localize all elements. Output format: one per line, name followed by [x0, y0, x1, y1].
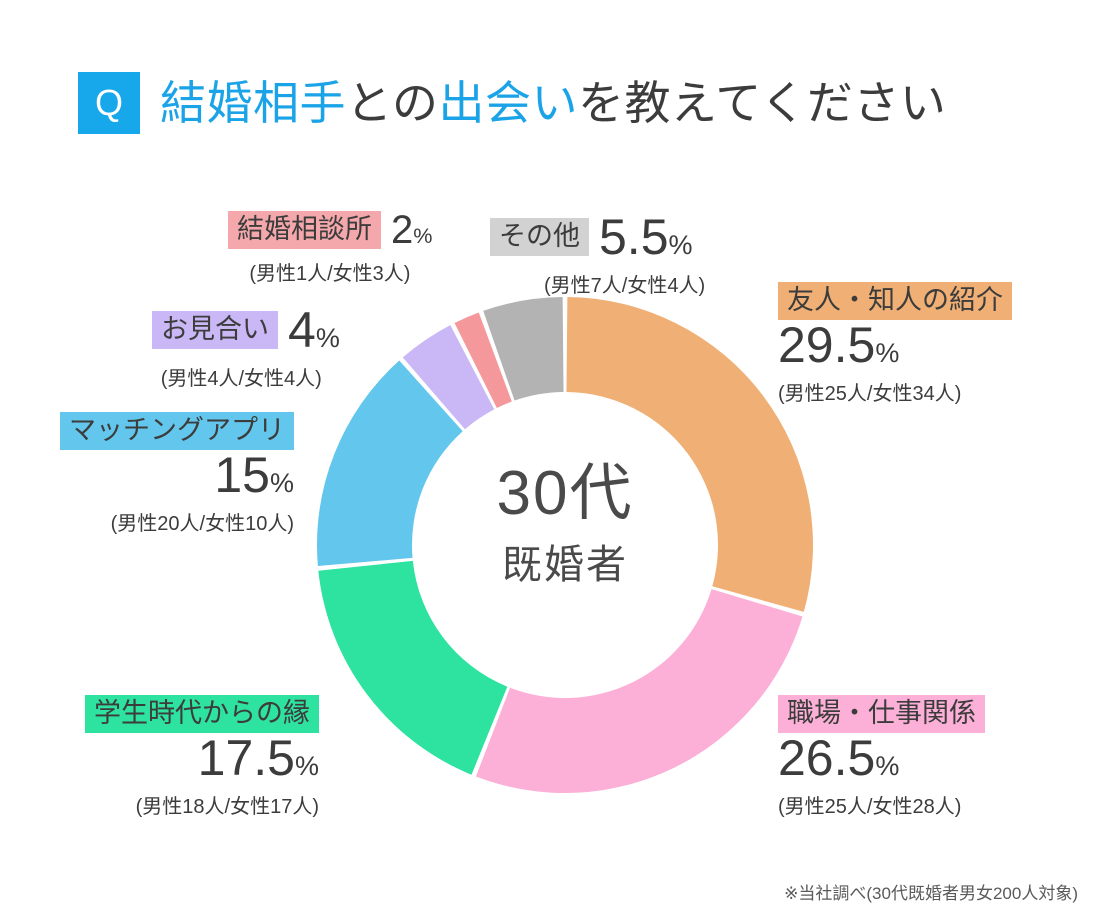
- title-segment-2: との: [346, 77, 439, 129]
- callout-shokuba-percent-row: 26.5%: [778, 733, 985, 783]
- donut-chart: 30代 既婚者: [310, 290, 820, 800]
- callout-matching-app-chip-row: マッチングアプリ: [60, 412, 294, 450]
- callout-gakusei-jidai: 学生時代からの縁 17.5% (男性18人/女性17人): [85, 695, 319, 819]
- donut-center-status: 既婚者: [310, 545, 820, 585]
- callout-matching-app-chip: マッチングアプリ: [60, 412, 294, 450]
- callout-omiai-breakdown: (男性4人/女性4人): [152, 362, 340, 391]
- callout-konkatsu-breakdown: (男性1人/女性3人): [228, 257, 432, 286]
- callout-konkatsu-chip: 結婚相談所: [228, 211, 381, 249]
- callout-shokuba-shigoto: 職場・仕事関係 26.5% (男性25人/女性28人): [778, 695, 985, 819]
- callout-omiai-row: お見合い 4%: [152, 305, 340, 355]
- callout-yujin-percent: 29.5%: [778, 320, 899, 370]
- callout-sonota-row: その他 5.5%: [490, 212, 705, 262]
- callout-shokuba-breakdown: (男性25人/女性28人): [778, 790, 985, 819]
- callout-omiai: お見合い 4% (男性4人/女性4人): [152, 305, 340, 391]
- callout-matching-app: マッチングアプリ 15% (男性20人/女性10人): [60, 412, 294, 536]
- callout-gakusei-percent: 17.5%: [198, 733, 319, 783]
- callout-gakusei-chip: 学生時代からの縁: [85, 695, 319, 733]
- donut-segment: [476, 589, 803, 793]
- callout-shokuba-stack: 職場・仕事関係 26.5%: [778, 695, 985, 783]
- callout-yujin-chip-row: 友人・知人の紹介: [778, 282, 1012, 320]
- callout-matching-app-percent: 15%: [214, 450, 294, 500]
- callout-sonota-percent: 5.5%: [599, 212, 693, 262]
- callout-yujin-chip: 友人・知人の紹介: [778, 282, 1012, 320]
- callout-matching-app-percent-row: 15%: [60, 450, 294, 500]
- donut-segment: [318, 561, 507, 775]
- callout-shokuba-chip-row: 職場・仕事関係: [778, 695, 985, 733]
- callout-shokuba-percent: 26.5%: [778, 733, 899, 783]
- callout-omiai-chip: お見合い: [152, 311, 278, 349]
- callout-sonota-chip: その他: [490, 218, 589, 256]
- callout-shokuba-chip: 職場・仕事関係: [778, 695, 985, 733]
- callout-gakusei-stack: 学生時代からの縁 17.5%: [85, 695, 319, 783]
- callout-yujin-breakdown: (男性25人/女性34人): [778, 377, 1012, 406]
- callout-sonota-breakdown: (男性7人/女性4人): [490, 269, 705, 298]
- callout-yujin-stack: 友人・知人の紹介 29.5%: [778, 282, 1012, 370]
- callout-matching-app-breakdown: (男性20人/女性10人): [60, 507, 294, 536]
- title-segment-4: を教えてください: [578, 77, 946, 129]
- callout-gakusei-chip-row: 学生時代からの縁: [85, 695, 319, 733]
- callout-omiai-percent: 4%: [288, 305, 340, 355]
- callout-gakusei-percent-row: 17.5%: [85, 733, 319, 783]
- callout-gakusei-breakdown: (男性18人/女性17人): [85, 790, 319, 819]
- callout-konkatsu-row: 結婚相談所 2%: [228, 210, 432, 250]
- title-segment-1: 結婚相手: [160, 77, 346, 129]
- callout-sonota: その他 5.5% (男性7人/女性4人): [490, 212, 705, 298]
- page-title: Q 結婚相手との出会いを教えてください: [78, 72, 946, 134]
- callout-yujin-percent-row: 29.5%: [778, 320, 1012, 370]
- callout-konkatsu-soudanjo: 結婚相談所 2% (男性1人/女性3人): [228, 210, 432, 286]
- page-title-text: 結婚相手との出会いを教えてください: [160, 80, 946, 126]
- callout-konkatsu-percent: 2%: [391, 210, 432, 250]
- donut-center-age: 30代: [310, 463, 820, 525]
- callout-matching-app-stack: マッチングアプリ 15%: [60, 412, 294, 500]
- survey-footnote: ※当社調べ(30代既婚者男女200人対象): [784, 879, 1078, 904]
- title-segment-3: 出会い: [439, 77, 579, 129]
- callout-yujin-shoukai: 友人・知人の紹介 29.5% (男性25人/女性34人): [778, 282, 1012, 406]
- question-badge: Q: [78, 72, 140, 134]
